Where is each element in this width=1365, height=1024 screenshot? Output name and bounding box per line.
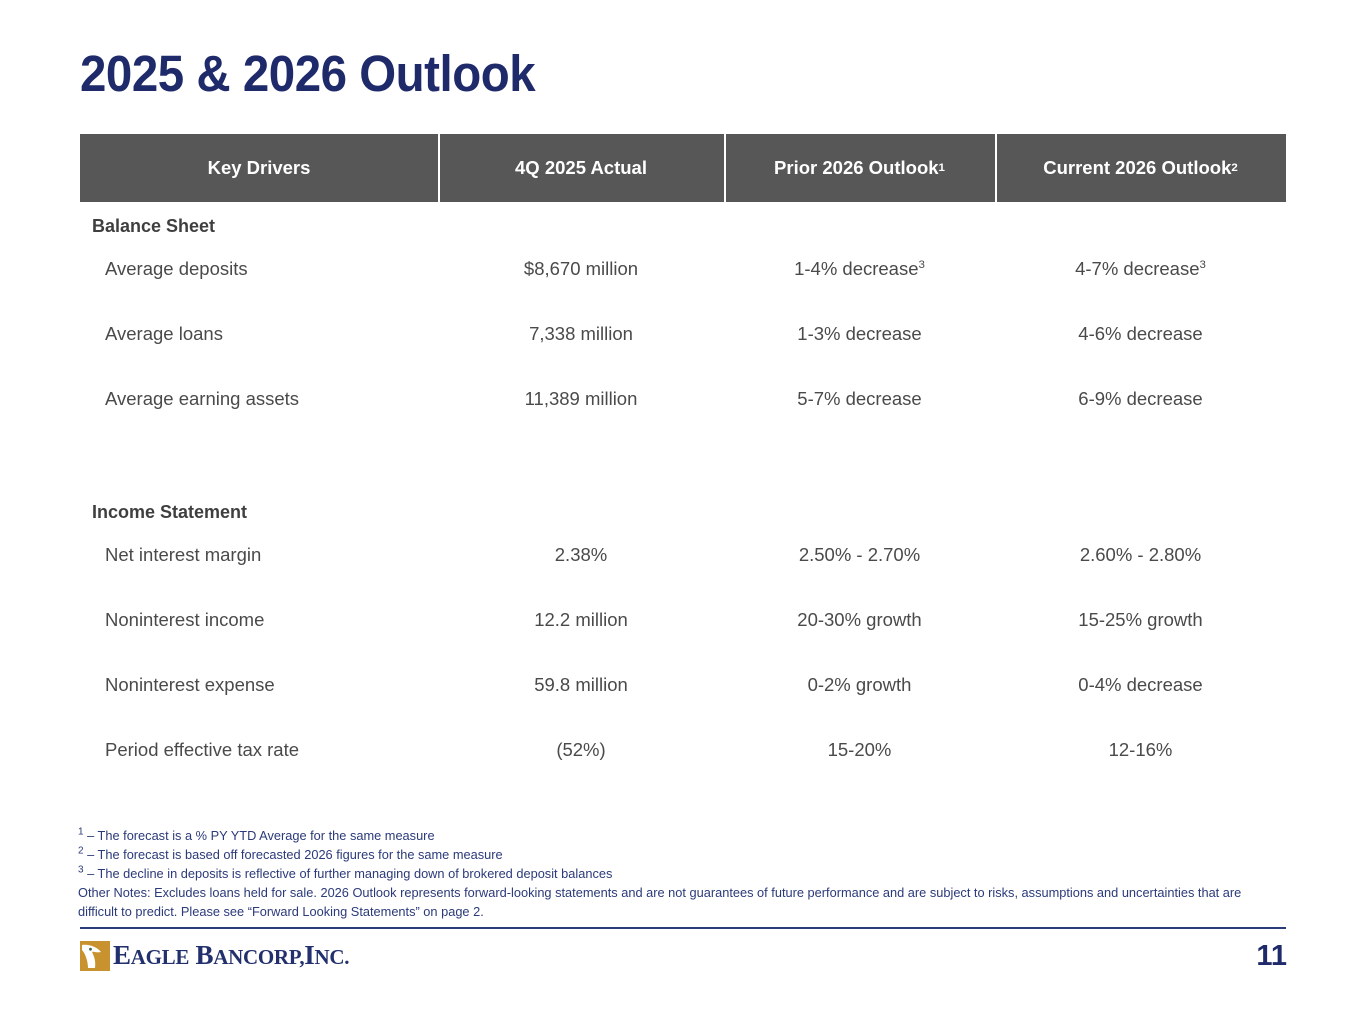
row-prior-outlook-text: 5-7% decrease bbox=[797, 388, 921, 409]
other-notes: Other Notes: Excludes loans held for sal… bbox=[78, 883, 1252, 921]
logo-bancorp-cap: B bbox=[196, 940, 214, 970]
page-number: 11 bbox=[1256, 940, 1287, 973]
row-current-outlook-text: 6-9% decrease bbox=[1078, 388, 1202, 409]
row-label: Noninterest expense bbox=[80, 674, 438, 696]
footnote-3: 3 – The decline in deposits is reflectiv… bbox=[78, 864, 1252, 883]
row-current-outlook: 12-16% bbox=[995, 739, 1286, 761]
row-actual: 2.38% bbox=[438, 544, 724, 566]
row-current-outlook: 15-25% growth bbox=[995, 609, 1286, 631]
eagle-bancorp-logo: EAGLE BANCORP,INC. bbox=[80, 940, 349, 972]
logo-eagle-cap: E bbox=[113, 940, 131, 970]
row-prior-outlook: 5-7% decrease bbox=[724, 388, 995, 410]
row-prior-outlook: 15-20% bbox=[724, 739, 995, 761]
column-header-label: Key Drivers bbox=[208, 157, 311, 179]
row-current-outlook: 2.60% - 2.80% bbox=[995, 544, 1286, 566]
row-prior-outlook: 0-2% growth bbox=[724, 674, 995, 696]
table-row: Period effective tax rate (52%) 15-20% 1… bbox=[80, 739, 1286, 761]
row-prior-outlook: 2.50% - 2.70% bbox=[724, 544, 995, 566]
column-header-prior-2026-outlook: Prior 2026 Outlook1 bbox=[724, 134, 995, 202]
footnote-1: 1 – The forecast is a % PY YTD Average f… bbox=[78, 826, 1252, 845]
row-label: Average earning assets bbox=[80, 388, 438, 410]
footnote-text: – The forecast is based off forecasted 2… bbox=[84, 847, 503, 862]
column-header-label: Current 2026 Outlook bbox=[1043, 157, 1231, 179]
row-current-outlook-text: 2.60% - 2.80% bbox=[1080, 544, 1201, 565]
column-header-4q-2025-actual: 4Q 2025 Actual bbox=[438, 134, 724, 202]
row-label: Period effective tax rate bbox=[80, 739, 438, 761]
row-current-outlook-text: 0-4% decrease bbox=[1078, 674, 1202, 695]
footnote-text: – The decline in deposits is reflective … bbox=[84, 866, 613, 881]
column-header-current-2026-outlook: Current 2026 Outlook2 bbox=[995, 134, 1286, 202]
row-prior-outlook: 1-4% decrease3 bbox=[724, 258, 995, 280]
column-header-key-drivers: Key Drivers bbox=[80, 134, 438, 202]
logo-inc-rest: NC. bbox=[314, 945, 349, 969]
outlook-table: Key Drivers 4Q 2025 Actual Prior 2026 Ou… bbox=[80, 134, 1286, 761]
row-current-outlook-text: 12-16% bbox=[1109, 739, 1173, 760]
row-prior-outlook-text: 20-30% growth bbox=[797, 609, 921, 630]
section-title-income-statement: Income Statement bbox=[80, 502, 1286, 523]
table-row: Average deposits $8,670 million 1-4% dec… bbox=[80, 258, 1286, 280]
row-current-outlook: 4-6% decrease bbox=[995, 323, 1286, 345]
row-current-outlook-sup: 3 bbox=[1200, 259, 1206, 271]
row-label: Net interest margin bbox=[80, 544, 438, 566]
footnote-2: 2 – The forecast is based off forecasted… bbox=[78, 845, 1252, 864]
section-title-balance-sheet: Balance Sheet bbox=[80, 216, 1286, 237]
column-header-label: Prior 2026 Outlook bbox=[774, 157, 939, 179]
row-actual: 12.2 million bbox=[438, 609, 724, 631]
logo-inc-cap: I bbox=[304, 940, 314, 970]
row-label: Average loans bbox=[80, 323, 438, 345]
row-prior-outlook-text: 1-3% decrease bbox=[797, 323, 921, 344]
footer-divider bbox=[80, 927, 1286, 929]
row-current-outlook: 6-9% decrease bbox=[995, 388, 1286, 410]
table-row: Average earning assets 11,389 million 5-… bbox=[80, 388, 1286, 410]
logo-bancorp-rest: ANCORP, bbox=[213, 945, 304, 969]
row-prior-outlook-text: 1-4% decrease bbox=[794, 258, 918, 279]
row-prior-outlook-text: 2.50% - 2.70% bbox=[799, 544, 920, 565]
column-header-label: 4Q 2025 Actual bbox=[515, 157, 647, 179]
row-actual: $8,670 million bbox=[438, 258, 724, 280]
row-current-outlook-text: 4-6% decrease bbox=[1078, 323, 1202, 344]
row-actual: 11,389 million bbox=[438, 388, 724, 410]
row-prior-outlook-text: 0-2% growth bbox=[808, 674, 912, 695]
logo-wordmark: EAGLE BANCORP,INC. bbox=[113, 940, 349, 972]
row-prior-outlook: 1-3% decrease bbox=[724, 323, 995, 345]
row-current-outlook-text: 15-25% growth bbox=[1078, 609, 1202, 630]
row-current-outlook: 0-4% decrease bbox=[995, 674, 1286, 696]
row-current-outlook: 4-7% decrease3 bbox=[995, 258, 1286, 280]
page-title: 2025 & 2026 Outlook bbox=[80, 44, 535, 103]
footnotes-block: 1 – The forecast is a % PY YTD Average f… bbox=[78, 826, 1252, 921]
table-row: Noninterest expense 59.8 million 0-2% gr… bbox=[80, 674, 1286, 696]
eagle-head-icon bbox=[80, 941, 110, 971]
table-row: Noninterest income 12.2 million 20-30% g… bbox=[80, 609, 1286, 631]
row-actual: 59.8 million bbox=[438, 674, 724, 696]
table-row: Average loans 7,338 million 1-3% decreas… bbox=[80, 323, 1286, 345]
row-actual: 7,338 million bbox=[438, 323, 724, 345]
row-prior-outlook: 20-30% growth bbox=[724, 609, 995, 631]
row-prior-outlook-sup: 3 bbox=[919, 259, 925, 271]
row-prior-outlook-text: 15-20% bbox=[828, 739, 892, 760]
footnote-text: – The forecast is a % PY YTD Average for… bbox=[84, 828, 435, 843]
row-actual: (52%) bbox=[438, 739, 724, 761]
section-spacer bbox=[80, 410, 1286, 502]
row-label: Average deposits bbox=[80, 258, 438, 280]
row-current-outlook-text: 4-7% decrease bbox=[1075, 258, 1199, 279]
table-row: Net interest margin 2.38% 2.50% - 2.70% … bbox=[80, 544, 1286, 566]
logo-eagle-rest: AGLE bbox=[131, 945, 189, 969]
table-header-row: Key Drivers 4Q 2025 Actual Prior 2026 Ou… bbox=[80, 134, 1286, 202]
row-label: Noninterest income bbox=[80, 609, 438, 631]
